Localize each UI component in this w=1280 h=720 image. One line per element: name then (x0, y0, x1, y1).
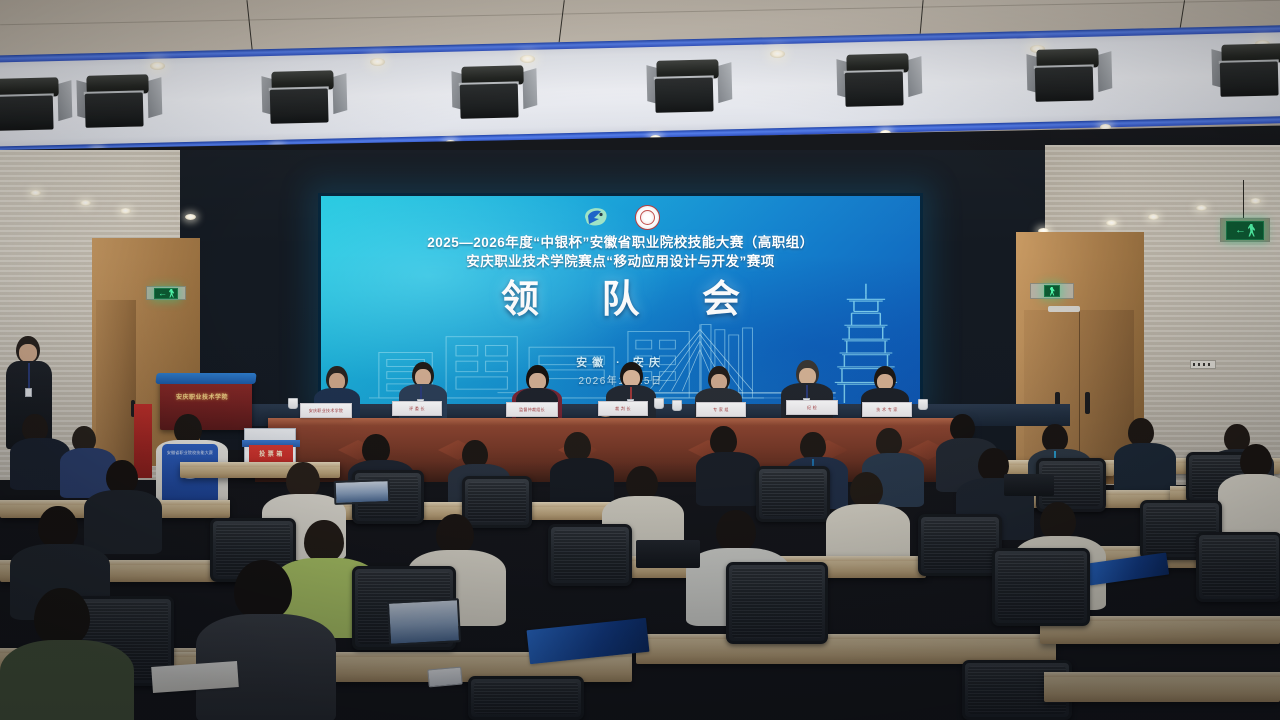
laptop[interactable] (334, 479, 391, 505)
running-man-icon (1050, 287, 1055, 296)
ceiling-downlight (185, 214, 196, 220)
ceiling-downlight (520, 55, 535, 63)
exit-sign-cable (1243, 180, 1244, 220)
water-cup (672, 400, 682, 411)
stage-light-fixture (1214, 43, 1280, 101)
name-placard: 安庆职业技术学院 (300, 403, 352, 418)
stage-light-fixture (0, 77, 69, 135)
podium-sign-text: 安庆职业技术学院 (166, 390, 238, 402)
right-door-exit-housing (1030, 283, 1074, 299)
name-placard: 监督仲裁组长 (506, 402, 558, 417)
exit-arrow-icon: ← (1235, 225, 1246, 236)
conference-hall-photo: ← ← (0, 0, 1280, 720)
ceiling-downlight (1106, 220, 1117, 226)
stage-light-fixture (1029, 48, 1108, 106)
ceiling-downlight (770, 50, 785, 58)
ceiling-downlight (1196, 205, 1207, 211)
stage-light-fixture (649, 59, 728, 117)
chair[interactable] (468, 676, 584, 720)
screen-text-block: 2025—2026年度“中银杯”安徽省职业院校技能大赛（高职组） 安庆职业技术学… (321, 234, 920, 322)
chair[interactable] (756, 466, 830, 522)
water-cup (654, 398, 664, 409)
ceiling-downlight (30, 190, 41, 196)
phone[interactable] (427, 667, 462, 688)
desk (1044, 672, 1280, 702)
ceiling-downlight (1148, 214, 1159, 220)
name-placard: 评 委 长 (392, 401, 442, 416)
water-cup (918, 399, 928, 410)
chair[interactable] (462, 476, 532, 528)
stage-light-fixture (454, 65, 533, 123)
screen-logo-row (321, 202, 920, 232)
laptop[interactable] (636, 540, 700, 568)
socket-slots-icon (1193, 363, 1212, 366)
screen-location: 安徽 · 安庆 (321, 354, 920, 370)
podium: 安庆职业技术学院 (160, 378, 252, 430)
ceiling-downlight (150, 62, 165, 70)
door-closer (1048, 306, 1080, 312)
screen-title-line1: 2025—2026年度“中银杯”安徽省职业院校技能大赛（高职组） (321, 234, 920, 252)
name-placard: 纪 检 (786, 400, 838, 415)
chair[interactable] (918, 514, 1002, 576)
ceiling-downlight (80, 200, 91, 206)
stage-light-fixture (839, 53, 918, 111)
left-door-leaf[interactable] (96, 300, 136, 466)
stage-light-fixture (264, 70, 343, 128)
screen-title-line2: 安庆职业技术学院赛点“移动应用设计与开发”赛项 (321, 252, 920, 271)
water-cup (288, 398, 298, 409)
hanging-exit-housing: ← (1220, 218, 1270, 242)
chair[interactable] (726, 562, 828, 644)
wall-socket-plate[interactable] (1190, 360, 1216, 369)
competition-leaf-emblem-icon (582, 206, 609, 228)
chair[interactable] (548, 524, 632, 586)
running-man-icon (1248, 224, 1255, 237)
podium-top-panel (155, 373, 256, 384)
chair[interactable] (992, 548, 1090, 626)
screen-main-heading: 领 队 会 (321, 278, 920, 322)
laptop[interactable] (387, 598, 461, 646)
exit-arrow-icon: ← (158, 289, 167, 298)
name-placard: 裁 判 长 (598, 401, 648, 416)
exit-sign (1044, 285, 1060, 297)
stage-light-fixture (79, 74, 158, 132)
exit-sign: ← (1226, 221, 1264, 240)
ballot-box-text: 投 票 箱 (249, 449, 293, 458)
running-man-icon (169, 289, 174, 298)
volunteer-vest-text: 安徽省职业院校技能大赛 (162, 450, 218, 456)
ceiling-downlight (1250, 198, 1261, 204)
laptop[interactable] (1004, 474, 1054, 496)
chair[interactable] (1196, 532, 1280, 602)
ceiling-downlight (370, 58, 385, 66)
school-seal-emblem-icon (635, 205, 660, 230)
right-door-handle[interactable] (1085, 392, 1090, 414)
vertical-red-banner (134, 404, 152, 478)
exit-sign: ← (154, 288, 178, 299)
name-placard: 技 术 专 家 (862, 402, 912, 417)
name-placard: 专 家 组 (696, 402, 746, 417)
ceiling-downlight (120, 208, 131, 214)
left-door-exit-housing: ← (146, 286, 186, 300)
